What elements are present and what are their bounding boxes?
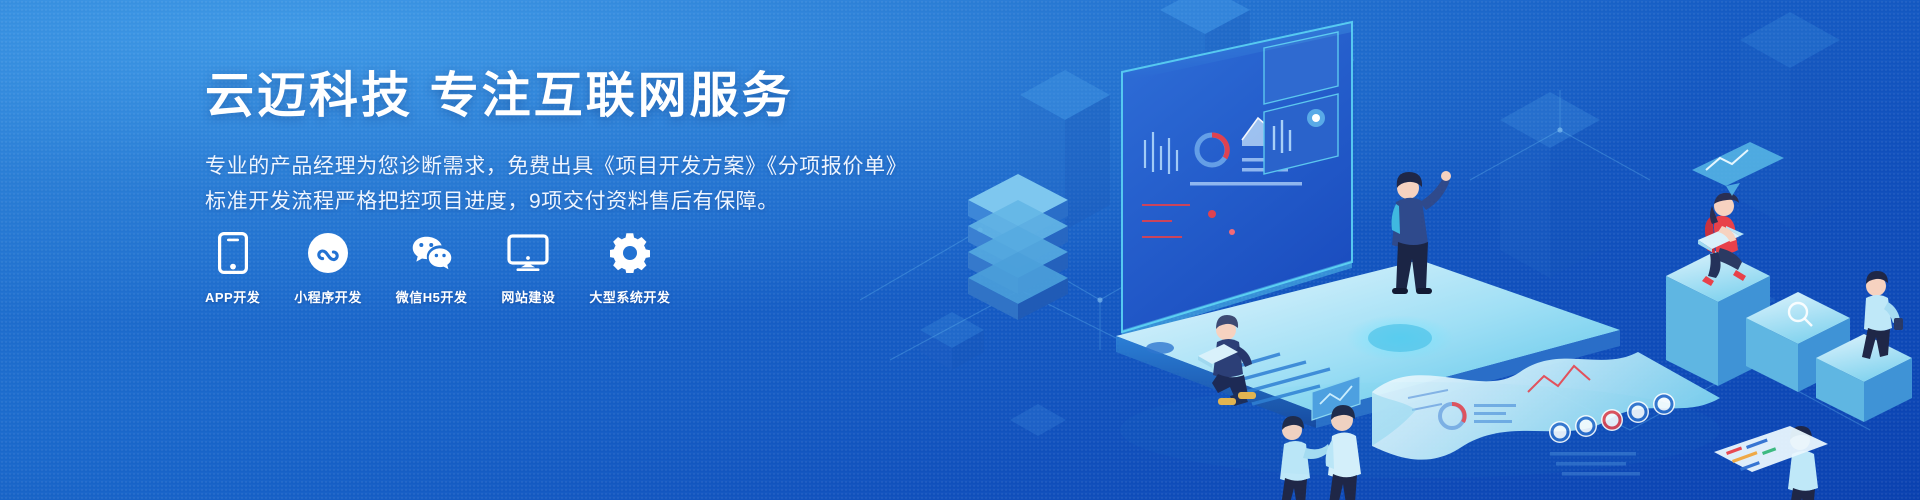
- service-item-large-system[interactable]: 大型系统开发: [589, 232, 670, 306]
- mini-program-icon: [307, 232, 349, 274]
- service-list: APP开发 小程序开发 微信: [205, 232, 670, 306]
- service-label: 小程序开发: [294, 287, 362, 306]
- hero-subtitle: 专业的产品经理为您诊断需求，免费出具《项目开发方案》《分项报价单》 标准开发流程…: [205, 149, 965, 219]
- service-label: 微信H5开发: [396, 287, 468, 306]
- hero-illustration: [860, 0, 1920, 500]
- subtitle-line-1: 专业的产品经理为您诊断需求，免费出具《项目开发方案》《分项报价单》: [205, 149, 965, 184]
- subtitle-line-2: 标准开发流程严格把控项目进度，9项交付资料售后有保障。: [205, 184, 965, 219]
- page-title: 云迈科技 专注互联网服务: [205, 70, 965, 124]
- monitor-icon: [507, 232, 549, 274]
- wechat-icon: [411, 232, 453, 274]
- hero-banner: 云迈科技 专注互联网服务 专业的产品经理为您诊断需求，免费出具《项目开发方案》《…: [0, 0, 1920, 500]
- service-label: 网站建设: [501, 287, 555, 306]
- walking-person-on-steps: [1746, 271, 1912, 422]
- hero-copy: 云迈科技 专注互联网服务 专业的产品经理为您诊断需求，免费出具《项目开发方案》《…: [205, 70, 965, 219]
- service-item-wechat-h5[interactable]: 微信H5开发: [396, 232, 468, 306]
- service-item-app[interactable]: APP开发: [205, 232, 260, 306]
- gear-icon: [609, 232, 651, 274]
- mobile-phone-icon: [212, 232, 254, 274]
- service-label: 大型系统开发: [589, 287, 670, 306]
- service-label: APP开发: [205, 287, 260, 306]
- server-stack: [968, 174, 1068, 320]
- service-item-website[interactable]: 网站建设: [501, 232, 555, 306]
- service-item-mini-program[interactable]: 小程序开发: [294, 232, 362, 306]
